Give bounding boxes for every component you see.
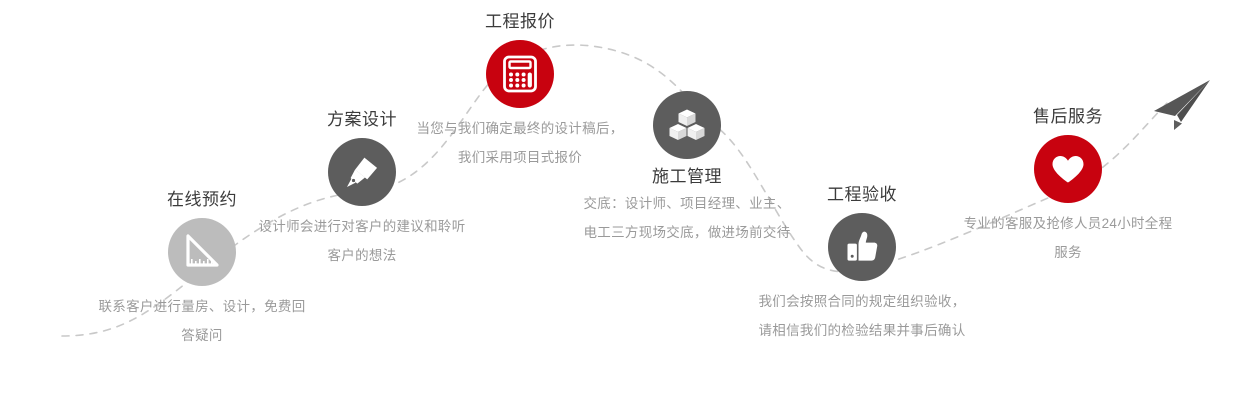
step-title-3: 工程报价 [415, 10, 625, 34]
heart-icon[interactable] [1034, 135, 1102, 203]
pen-nib-icon[interactable] [328, 138, 396, 206]
ruler-triangle-icon[interactable] [168, 218, 236, 286]
step-desc-6: 专业的客服及抢修人员24小时全程服务 [963, 209, 1173, 267]
paper-plane-icon [1148, 78, 1226, 145]
process-flow-diagram: 在线预约 联系客户进行量房、设计，免费回答疑问 方案设计 [0, 0, 1245, 402]
step-desc-1: 联系客户进行量房、设计，免费回答疑问 [97, 292, 307, 350]
step-title-5: 工程验收 [757, 183, 967, 207]
thumbs-up-icon[interactable] [828, 213, 896, 281]
step-desc-2: 设计师会进行对客户的建议和聆听客户的想法 [257, 212, 467, 270]
boxes-icon[interactable] [653, 91, 721, 159]
step-item-6[interactable]: 售后服务 专业的客服及抢修人员24小时全程服务 [963, 105, 1173, 267]
step-title-6: 售后服务 [963, 105, 1173, 129]
step-item-5[interactable]: 工程验收 我们会按照合同的规定组织验收，请相信我们的检验结果并事后确认 [757, 183, 967, 345]
step-desc-5: 我们会按照合同的规定组织验收，请相信我们的检验结果并事后确认 [757, 287, 967, 345]
calculator-icon[interactable] [486, 40, 554, 108]
